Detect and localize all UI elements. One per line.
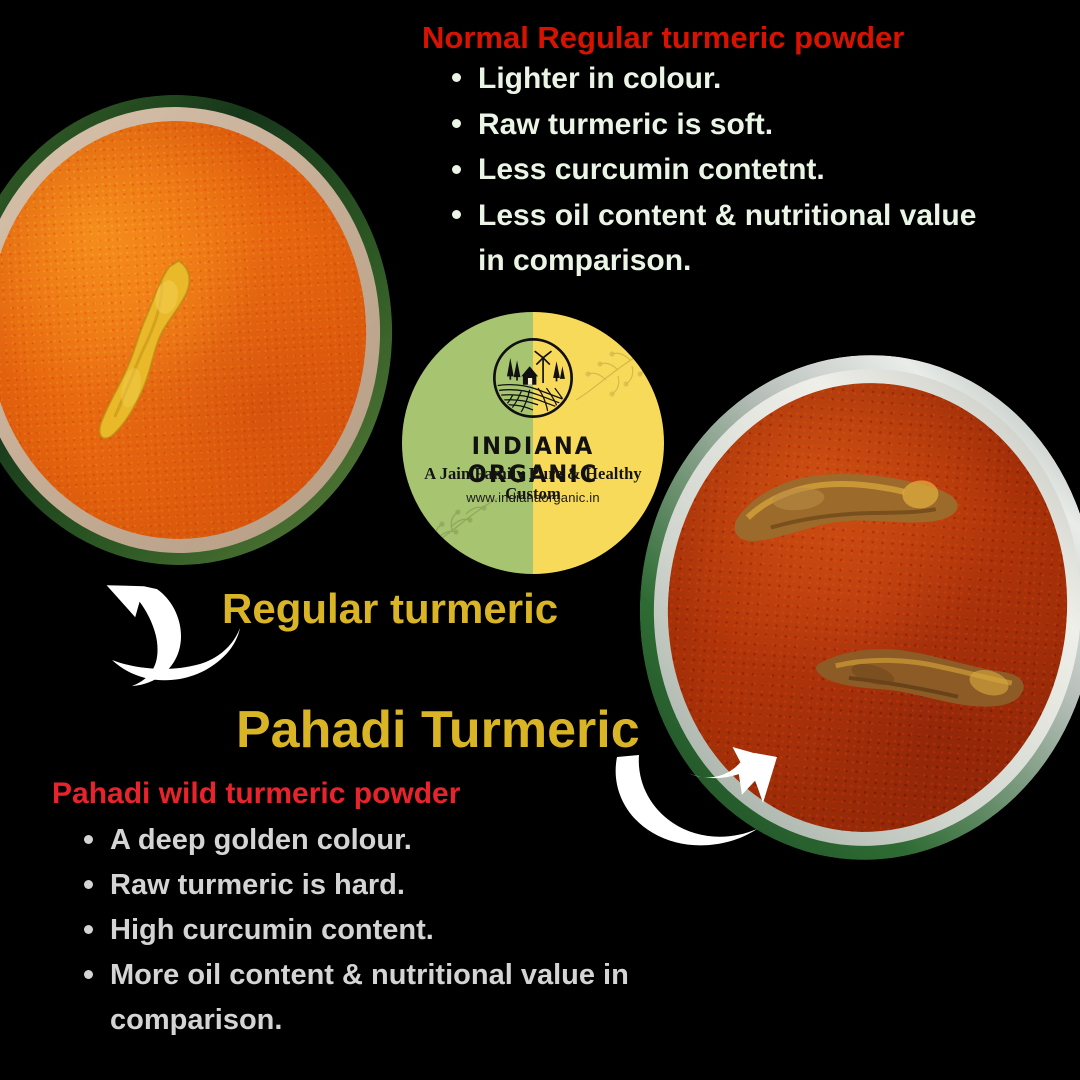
list-item: Raw turmeric is hard. xyxy=(72,863,772,908)
bullet-dot-icon xyxy=(84,970,93,979)
bullet-dot-icon xyxy=(452,119,461,128)
bullet-dot-icon xyxy=(84,835,93,844)
curved-arrow-up-left-icon xyxy=(88,548,268,688)
bullet-dot-icon xyxy=(452,165,461,174)
pahadi-turmeric-headline: Pahadi wild turmeric powder xyxy=(52,777,460,811)
regular-turmeric-caption: Regular turmeric xyxy=(222,585,558,633)
list-item-label: Raw turmeric is hard. xyxy=(110,869,405,901)
regular-turmeric-bullet-list: Lighter in colour. Raw turmeric is soft.… xyxy=(440,56,980,284)
regular-turmeric-photo xyxy=(0,84,404,576)
list-item-label: A deep golden colour. xyxy=(110,824,412,856)
logo-website-url: www.indianaorganic.in xyxy=(402,490,664,505)
farm-scene-emblem-icon xyxy=(491,336,575,420)
botanical-sprig-icon xyxy=(572,338,662,410)
bullet-dot-icon xyxy=(84,925,93,934)
bullet-dot-icon xyxy=(452,210,461,219)
turmeric-comparison-poster: INDIANA ORGANIC A Jain Family Pure & Hea… xyxy=(0,0,1080,1080)
bullet-dot-icon xyxy=(84,880,93,889)
list-item-label: Less curcumin contetnt. xyxy=(478,153,825,186)
list-item: Less oil content & nutritional value in … xyxy=(440,193,980,284)
list-item: Lighter in colour. xyxy=(440,56,980,102)
list-item: Less curcumin contetnt. xyxy=(440,147,980,193)
list-item: High curcumin content. xyxy=(72,908,772,953)
brand-logo-badge: INDIANA ORGANIC A Jain Family Pure & Hea… xyxy=(402,312,664,574)
regular-turmeric-headline: Normal Regular turmeric powder xyxy=(422,20,904,56)
list-item-label: High curcumin content. xyxy=(110,914,434,946)
list-item-label: Less oil content & nutritional value in … xyxy=(478,199,976,278)
pahadi-turmeric-caption: Pahadi Turmeric xyxy=(236,700,640,760)
list-item-label: Lighter in colour. xyxy=(478,62,721,95)
list-item: More oil content & nutritional value in … xyxy=(72,953,772,1043)
list-item: Raw turmeric is soft. xyxy=(440,102,980,148)
list-item-label: Raw turmeric is soft. xyxy=(478,108,773,141)
bullet-dot-icon xyxy=(452,73,461,82)
list-item-label: More oil content & nutritional value in … xyxy=(110,959,629,1036)
curved-arrow-up-right-icon xyxy=(605,733,795,861)
